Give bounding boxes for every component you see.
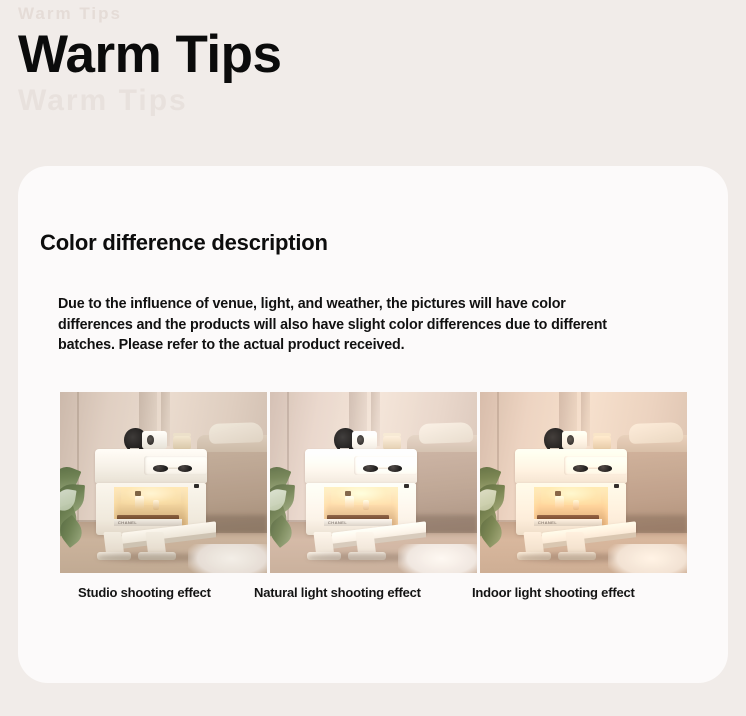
magazine-stack: CHANEL [534, 519, 603, 525]
pillow [419, 422, 473, 444]
perfume-bottle-small [573, 500, 580, 510]
cabinet-clip [194, 484, 199, 488]
perfume-bottle [555, 496, 564, 511]
leaf [480, 515, 507, 548]
leaf [60, 515, 87, 548]
lit-compartment: CHANEL [114, 487, 188, 526]
nightstand: CHANEL [515, 428, 627, 558]
ghost-title-bottom: Warm Tips [18, 84, 358, 118]
lit-compartment: CHANEL [324, 487, 398, 526]
drawer-knob [363, 465, 378, 472]
drawer-knob [598, 465, 613, 472]
cabinet-clip [614, 484, 619, 488]
rug [608, 544, 687, 573]
interior-light-glow [331, 487, 391, 505]
pillow [629, 422, 683, 444]
bedroom-scene: CHANEL [60, 392, 267, 573]
magazine-label: CHANEL [118, 520, 137, 525]
magazine-stack: CHANEL [114, 519, 183, 525]
shooting-effect-gallery: CHANEL [60, 392, 687, 573]
nightstand: CHANEL [95, 428, 207, 558]
drawer-knob [178, 465, 193, 472]
interior-light-glow [121, 487, 181, 505]
perfume-bottle [345, 496, 354, 511]
pillow [209, 422, 263, 444]
magazine-stack: CHANEL [324, 519, 393, 525]
nightstand-drawer-unit [95, 449, 207, 483]
ghost-title-top: Warm Tips [18, 4, 358, 24]
section-heading: Color difference description [40, 228, 370, 257]
product-photo-natural-light: CHANEL [270, 392, 477, 573]
gallery-captions: Studio shooting effect Natural light sho… [60, 584, 700, 604]
color-difference-card: Color difference description Due to the … [18, 166, 728, 683]
perfume-bottle-small [153, 500, 160, 510]
nightstand-drawer-unit [515, 449, 627, 483]
caption-studio: Studio shooting effect [78, 584, 211, 602]
perfume-bottle-small [363, 500, 370, 510]
rug [398, 544, 477, 573]
page-title: Warm Tips [18, 24, 282, 86]
drawer-knob [388, 465, 403, 472]
bedroom-scene: CHANEL [270, 392, 477, 573]
perfume-bottle [135, 496, 144, 511]
nightstand: CHANEL [305, 428, 417, 558]
decor-box [142, 431, 167, 449]
product-photo-studio: CHANEL [60, 392, 267, 573]
color-difference-body-text: Due to the influence of venue, light, an… [58, 294, 610, 356]
drawer-knob [573, 465, 588, 472]
magazine-label: CHANEL [538, 520, 557, 525]
plant [480, 464, 513, 547]
rug [188, 544, 267, 573]
bedroom-scene: CHANEL [480, 392, 687, 573]
drawer-knob [153, 465, 168, 472]
page-header: Warm Tips Warm Tips Warm Tips [0, 0, 746, 152]
decor-box [562, 431, 587, 449]
caption-indoor-light: Indoor light shooting effect [472, 584, 635, 602]
product-photo-indoor-light: CHANEL [480, 392, 687, 573]
caption-natural-light: Natural light shooting effect [254, 584, 421, 602]
lit-compartment: CHANEL [534, 487, 608, 526]
plant [270, 464, 303, 547]
decor-box [352, 431, 377, 449]
magazine-label: CHANEL [328, 520, 347, 525]
interior-light-glow [541, 487, 601, 505]
cabinet-clip [404, 484, 409, 488]
plant [60, 464, 93, 547]
nightstand-drawer-unit [305, 449, 417, 483]
leaf [270, 515, 297, 548]
